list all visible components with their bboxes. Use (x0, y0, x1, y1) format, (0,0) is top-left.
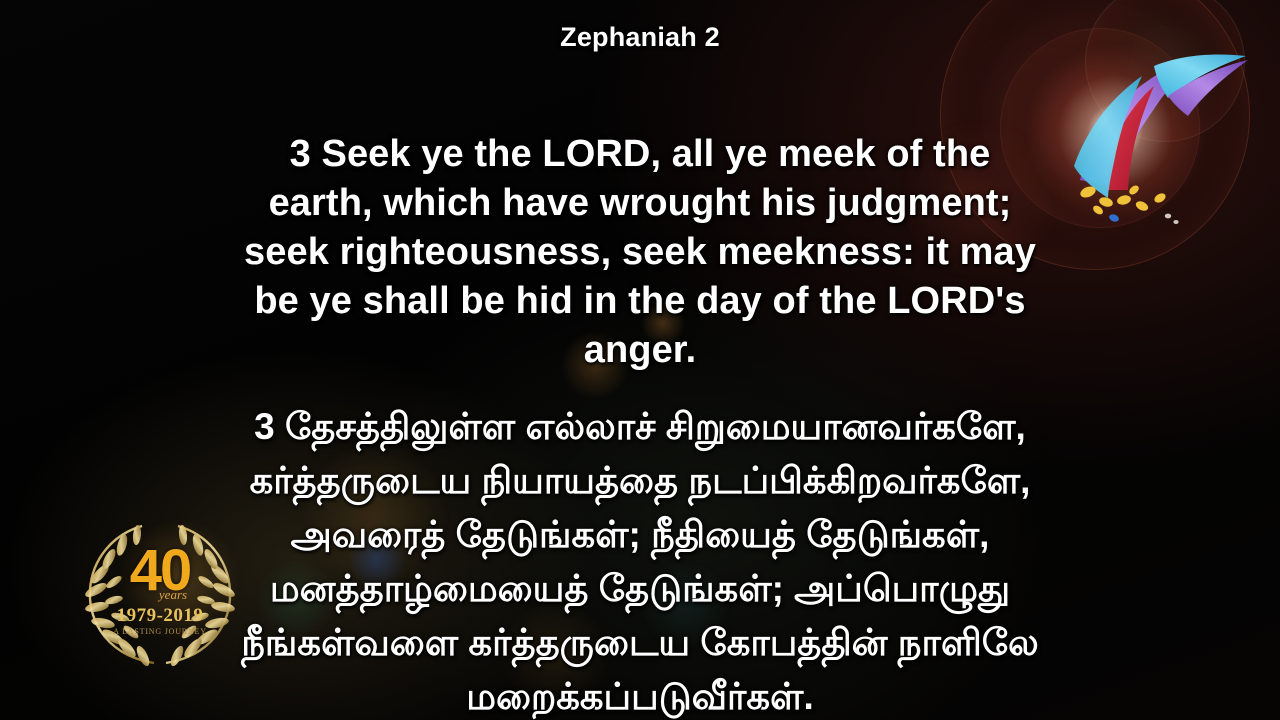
tamil-verse-line: மனத்தாழ்மையைத் தேடுங்கள்; அப்பொழுது (40, 562, 1240, 616)
tamil-verse-line: நீங்கள்வளை கர்த்தருடைய கோபத்தின் நாளிலே (40, 616, 1240, 670)
english-verse-line: earth, which have wrought his judgment; (52, 179, 1228, 228)
tamil-verse-line: அவரைத் தேடுங்கள்; நீதியைத் தேடுங்கள், (40, 508, 1240, 562)
english-verse-line: seek righteousness, seek meekness: it ma… (52, 228, 1228, 277)
tamil-verse-text: 3 தேசத்திலுள்ள எல்லாச் சிறுமையானவர்களே, … (40, 400, 1240, 720)
tamil-verse-line: மறைக்கப்படுவீர்கள். (40, 670, 1240, 720)
bible-verse-slide: 40 years 1979-2019 A LASTING JOURNEY (0, 0, 1280, 720)
tamil-verse-line: கர்த்தருடைய நியாயத்தை நடப்பிக்கிறவர்களே, (40, 454, 1240, 508)
tamil-verse-line: 3 தேசத்திலுள்ள எல்லாச் சிறுமையானவர்களே, (40, 400, 1240, 454)
page-title: Zephaniah 2 (0, 22, 1280, 53)
english-verse-line: 3 Seek ye the LORD, all ye meek of the (52, 130, 1228, 179)
english-verse-line: be ye shall be hid in the day of the LOR… (52, 277, 1228, 326)
english-verse-text: 3 Seek ye the LORD, all ye meek of the e… (52, 130, 1228, 375)
english-verse-line: anger. (52, 326, 1228, 375)
